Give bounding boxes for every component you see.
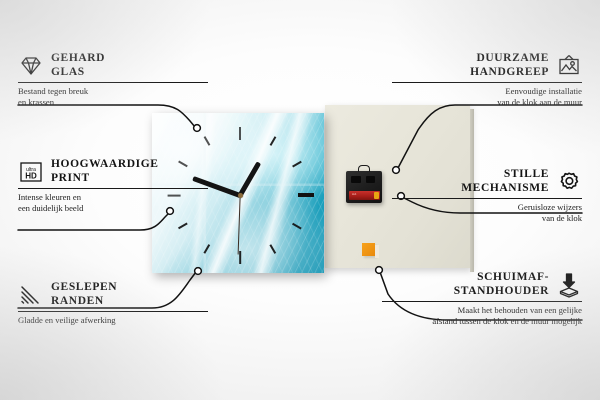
foam-spacer-pad [362, 243, 375, 256]
callout-rule [18, 82, 208, 83]
callout-title: HOOGWAARDIGE PRINT [51, 158, 159, 185]
callout-description: Intense kleuren en een duidelijk beeld [18, 192, 208, 213]
callout-description: Maakt het behouden van een gelijke afsta… [382, 305, 582, 326]
ground-edges-icon [18, 283, 44, 307]
callout-title: SCHUIMAF- STANDHOUDER [454, 271, 549, 298]
callout-rule [18, 311, 208, 312]
foam-spacer-shadow [375, 245, 379, 258]
callout-description: Gladde en veilige afwerking [18, 315, 208, 326]
callout-header: SCHUIMAF- STANDHOUDER [382, 271, 582, 298]
callout-header: ultra HD HOOGWAARDIGE PRINT [18, 158, 208, 185]
mechanism-slot-right [366, 176, 375, 183]
svg-text:HD: HD [25, 171, 37, 180]
callout-gehard-glas: GEHARD GLAS Bestand tegen breuk en krass… [18, 52, 208, 107]
callout-header: DUURZAME HANDGREEP [392, 52, 582, 79]
callout-rule [392, 198, 582, 199]
clock-tick [239, 251, 241, 264]
callout-title: GESLEPEN RANDEN [51, 281, 117, 308]
callout-schuimafstandhouder: SCHUIMAF- STANDHOUDER Maakt het behouden… [382, 271, 582, 326]
mechanism-slot-left [351, 176, 361, 183]
callout-hoogwaardige-print: ultra HD HOOGWAARDIGE PRINT Intense kleu… [18, 158, 208, 213]
ultra-hd-icon: ultra HD [18, 160, 44, 184]
hanging-hook [358, 165, 370, 172]
callout-header: GESLEPEN RANDEN [18, 281, 208, 308]
battery-label: AA [352, 192, 356, 196]
callout-rule [18, 188, 208, 189]
callout-duurzame-handgreep: DUURZAME HANDGREEP Eenvoudige installati… [392, 52, 582, 107]
callout-header: GEHARD GLAS [18, 52, 208, 79]
callout-header: STILLE MECHANISME [392, 168, 582, 195]
callout-stille-mechanisme: STILLE MECHANISME Geruisloze wijzers van… [392, 168, 582, 223]
battery-plus-terminal [374, 192, 379, 199]
foam-spacer-icon [556, 272, 582, 298]
gear-icon [556, 170, 582, 194]
callout-geslepen-randen: GESLEPEN RANDEN Gladde en veilige afwerk… [18, 281, 208, 326]
callout-description: Geruisloze wijzers van de klok [392, 202, 582, 223]
clock-tick-3 [298, 193, 314, 196]
callout-rule [392, 82, 582, 83]
clock-hands-hub [238, 193, 243, 198]
callout-title: DUURZAME HANDGREEP [470, 52, 549, 79]
hanging-picture-icon [556, 54, 582, 78]
callout-rule [382, 301, 582, 302]
callout-description: Bestand tegen breuk en krassen [18, 86, 208, 107]
callout-title: STILLE MECHANISME [461, 168, 549, 195]
diamond-icon [18, 54, 44, 78]
battery: AA [349, 191, 380, 200]
clock-tick [239, 127, 241, 140]
clock-mechanism: AA [346, 171, 382, 203]
product-feature-infographic: AA [0, 0, 600, 400]
callout-title: GEHARD GLAS [51, 52, 105, 79]
callout-description: Eenvoudige installatie van de klok aan d… [392, 86, 582, 107]
